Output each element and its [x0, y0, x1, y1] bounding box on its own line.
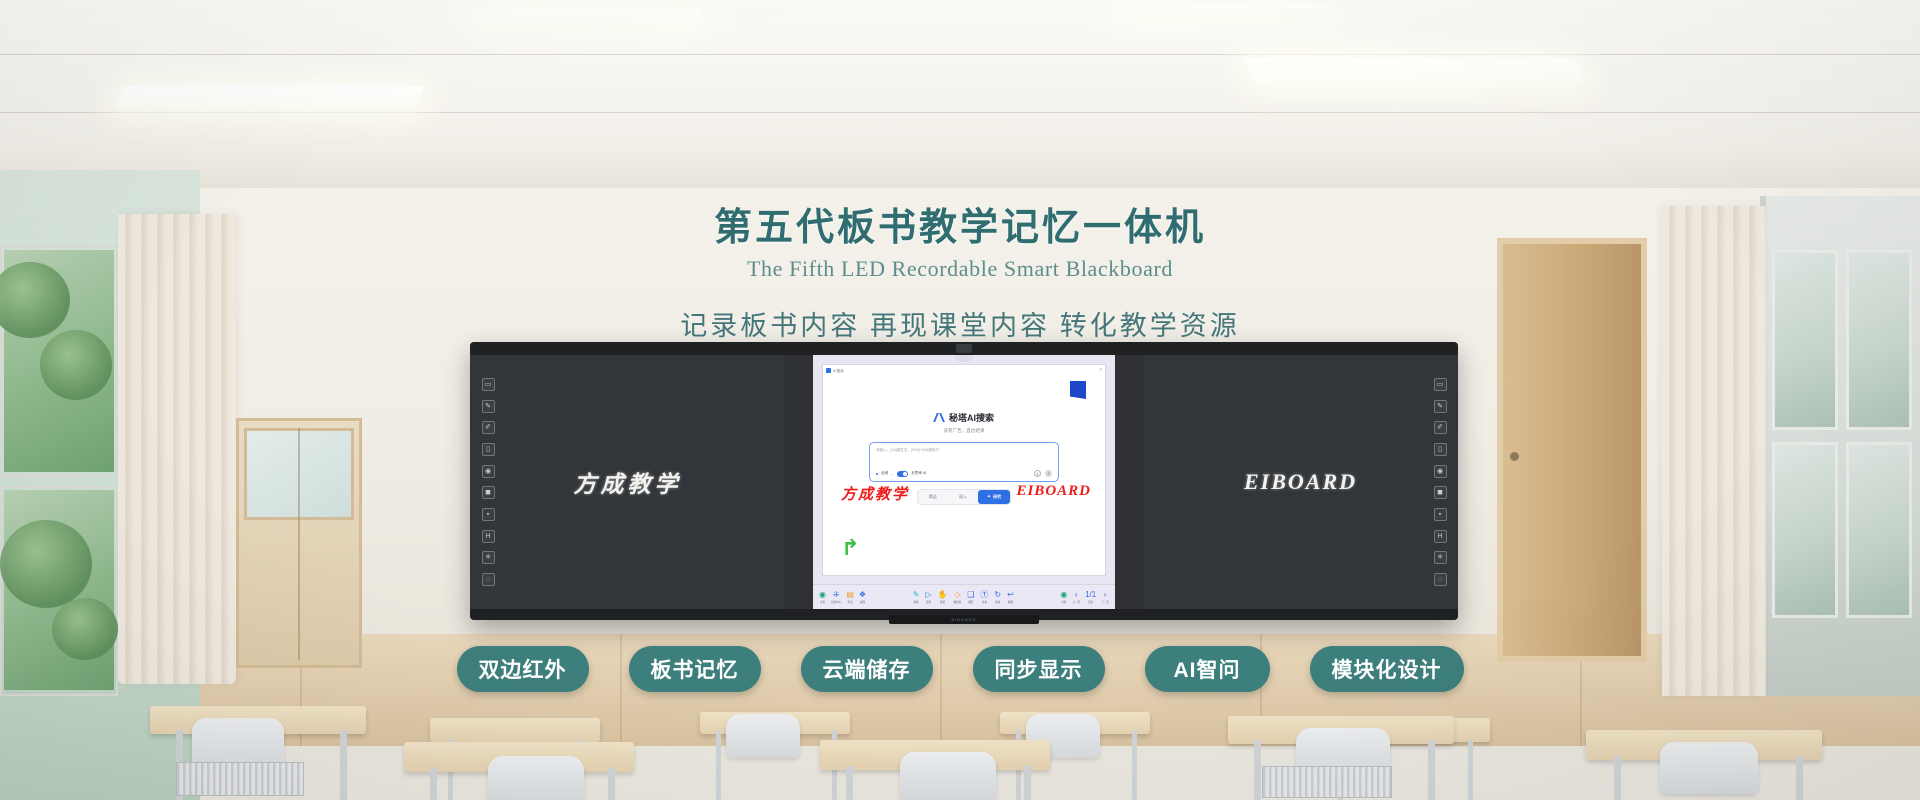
search-input[interactable]: 请输入，[Alt]键发送，[Shift]+[Alt]键换行 全网 ⌄ 长思考 A… — [869, 442, 1059, 482]
blue-flag-annotation — [1070, 381, 1086, 399]
feature-pill-label: 云端储存 — [823, 654, 911, 684]
eraser-tool-icon: ◇ — [954, 591, 960, 599]
search-tab-label: 深入 — [959, 494, 967, 499]
metaso-logo-icon — [934, 413, 946, 422]
search-tab-label: 简洁 — [929, 494, 937, 499]
right-control-strip[interactable]: ▭✎✐▯◉◼▪H✳◌ — [1429, 374, 1451, 590]
ceiling-seam — [0, 54, 1920, 55]
stop-icon[interactable]: ▪ — [482, 508, 495, 521]
search-placeholder: 请输入，[Alt]键发送，[Shift]+[Alt]键换行 — [876, 448, 1052, 453]
red-ink-chinese: 方成教学 — [841, 483, 909, 504]
chevron-down-icon[interactable]: ⌄ — [891, 472, 894, 476]
headline-chinese: 第五代板书教学记忆一体机 — [0, 196, 1920, 251]
taskbar-item-label: 漫游 — [940, 600, 945, 604]
taskbar-center-group[interactable]: ✎画笔▷选择✋漫游◇橡皮擦❑图形Ⓣ文本↻重来↩撤销 — [913, 591, 1014, 604]
headline-english: The Fifth LED Recordable Smart Blackboar… — [0, 256, 1920, 282]
brand-plate-label: EIBOARD — [951, 617, 976, 622]
board-brand-plate: EIBOARD — [889, 615, 1039, 624]
feature-pill-2[interactable]: 板书记忆 — [629, 646, 761, 692]
list-icon: ▤ — [846, 591, 854, 599]
undo-tool-button[interactable]: ↩撤销 — [1007, 591, 1014, 604]
taskbar-item-label: 应用中心 — [831, 600, 841, 604]
search-options-row: 全网 ⌄ 长思考 AI ◎ ＋ — [876, 470, 1052, 477]
search-tab-深入[interactable]: 深入 — [948, 490, 978, 504]
pen-alt-icon[interactable]: ✐ — [1434, 421, 1447, 434]
board-top-bezel — [470, 342, 1458, 355]
app-titlebar: AI搜索 × — [823, 365, 1105, 375]
dot-icon[interactable]: ◉ — [482, 465, 495, 478]
home-icon: ◉ — [819, 591, 826, 599]
interactive-screen[interactable]: AI搜索 × 秘塔AI搜索 没有广告，直达结果 请输入，[Alt]键发送，[Sh… — [813, 355, 1115, 609]
window-icon: ❖ — [859, 591, 866, 599]
app-slogan: 没有广告，直达结果 — [823, 428, 1105, 434]
add-attachment-icon[interactable]: ＋ — [1045, 470, 1052, 477]
blackboard-right-panel[interactable]: EIBOARD — [1143, 355, 1458, 609]
pen-icon[interactable]: ✎ — [1434, 400, 1447, 413]
power-icon[interactable]: ✳ — [1434, 551, 1447, 564]
taskbar-item-label: 撤销 — [1008, 600, 1013, 604]
display-icon[interactable]: ▭ — [482, 378, 495, 391]
ceiling-light — [468, 8, 702, 23]
page-icon[interactable]: ▯ — [482, 443, 495, 456]
display-icon[interactable]: ▭ — [1434, 378, 1447, 391]
prev-page-icon: ‹ — [1075, 591, 1078, 599]
list-button[interactable]: ▤列表 — [846, 591, 854, 604]
app-logo-text: 秘塔AI搜索 — [949, 411, 994, 424]
chalk-text-left: 方成教学 — [574, 465, 682, 499]
deep-think-toggle[interactable] — [897, 471, 908, 477]
text-tool-icon: Ⓣ — [980, 591, 988, 599]
power-icon[interactable]: ✳ — [482, 551, 495, 564]
search-tab-研究[interactable]: ✦研究 — [978, 490, 1010, 504]
dot-icon[interactable]: ◉ — [1434, 465, 1447, 478]
taskbar-item-label: 列表 — [848, 600, 853, 604]
door-knob[interactable] — [1510, 452, 1519, 461]
page-count-icon: 1/1 — [1085, 591, 1096, 599]
settings-icon[interactable]: ◌ — [1434, 573, 1447, 586]
prev-page-button[interactable]: ‹上一页 — [1072, 591, 1080, 604]
chalk-text-right: EIBOARD — [1244, 469, 1357, 495]
shape-tool-icon: ❑ — [967, 591, 974, 599]
page-count-button[interactable]: 1/1页码 — [1085, 591, 1096, 604]
blackboard-left-panel[interactable]: 方成教学 — [470, 355, 785, 609]
app-title: AI搜索 — [833, 368, 844, 373]
feature-pill-6[interactable]: 模块化设计 — [1310, 646, 1464, 692]
home-button[interactable]: ◉主页 — [819, 591, 826, 604]
eraser-tool-button[interactable]: ◇橡皮擦 — [953, 591, 961, 604]
hand-tool-button[interactable]: ✋漫游 — [937, 591, 947, 604]
feature-pill-label: 模块化设计 — [1332, 654, 1442, 684]
ceiling-light — [1118, 4, 1331, 18]
taskbar-item-label: 重来 — [995, 600, 1000, 604]
screen-taskbar[interactable]: ◉主页⁜应用中心▤列表❖桌面 ✎画笔▷选择✋漫游◇橡皮擦❑图形Ⓣ文本↻重来↩撤销… — [813, 584, 1115, 609]
sparkle-icon: ✦ — [987, 495, 991, 500]
pen-alt-icon[interactable]: ✐ — [482, 421, 495, 434]
next-page-icon: › — [1104, 591, 1107, 599]
ai-search-app-window[interactable]: AI搜索 × 秘塔AI搜索 没有广告，直达结果 请输入，[Alt]键发送，[Sh… — [822, 364, 1106, 576]
cabinet-door-split — [298, 428, 300, 660]
pen-tool-icon: ✎ — [913, 591, 920, 599]
window-pane — [1772, 442, 1838, 618]
taskbar-item-label: 录屏 — [1061, 600, 1066, 604]
taskbar-item-label: 上一页 — [1072, 600, 1080, 604]
text-tool-button[interactable]: Ⓣ文本 — [980, 591, 988, 604]
taskbar-item-label: 主页 — [820, 600, 825, 604]
next-page-button[interactable]: ›下一页 — [1101, 591, 1109, 604]
screen-notch — [955, 355, 973, 362]
taskbar-item-label: 桌面 — [860, 600, 865, 604]
feature-pill-label: AI智问 — [1174, 654, 1241, 684]
taskbar-item-label: 选择 — [926, 600, 931, 604]
taskbar-right-group[interactable]: ◉录屏‹上一页1/1页码›下一页 — [1060, 591, 1109, 604]
record-button[interactable]: ◉录屏 — [1060, 591, 1067, 604]
square-dot-icon[interactable]: ◼ — [482, 486, 495, 499]
ceiling-seam — [0, 112, 1920, 113]
record-icon: ◉ — [1060, 591, 1067, 599]
search-tab-简洁[interactable]: 简洁 — [918, 490, 948, 504]
window-button[interactable]: ❖桌面 — [859, 591, 866, 604]
shape-tool-button[interactable]: ❑图形 — [967, 591, 974, 604]
settings-icon[interactable]: ◌ — [482, 573, 495, 586]
apps-icon: ⁜ — [833, 591, 840, 599]
select-tool-button[interactable]: ▷选择 — [925, 591, 931, 604]
red-ink-english: EIBOARD — [1016, 483, 1091, 500]
feature-pill-label: 同步显示 — [995, 654, 1083, 684]
scope-selector[interactable]: 全网 — [881, 471, 888, 476]
taskbar-item-label: 页码 — [1088, 600, 1093, 604]
feature-pill-row[interactable]: 双边红外板书记忆云端储存同步显示AI智问模块化设计 — [0, 646, 1920, 692]
app-icon — [826, 368, 831, 373]
hero-headline: 第五代板书教学记忆一体机 The Fifth LED Recordable Sm… — [0, 196, 1920, 343]
refresh-tool-button[interactable]: ↻重来 — [994, 591, 1001, 604]
close-icon[interactable]: × — [1099, 368, 1102, 373]
app-logo: 秘塔AI搜索 — [823, 411, 1105, 424]
headline-tagline: 记录板书内容 再现课堂内容 转化教学资源 — [0, 304, 1920, 343]
feature-pill-1[interactable]: 双边红外 — [457, 646, 589, 692]
hdmi-icon[interactable]: H — [482, 530, 495, 543]
green-undo-annotation: ↰ — [841, 537, 859, 559]
input-action-icons: ◎ ＋ — [1034, 470, 1052, 477]
undo-tool-icon: ↩ — [1007, 591, 1014, 599]
square-dot-icon[interactable]: ◼ — [1434, 486, 1447, 499]
feature-pill-4[interactable]: 同步显示 — [973, 646, 1105, 692]
deep-think-label: 长思考 AI — [911, 471, 926, 476]
ceiling-light — [115, 86, 426, 108]
mode-dot-icon — [876, 473, 878, 475]
feature-pill-3[interactable]: 云端储存 — [801, 646, 933, 692]
camera-icon[interactable]: ◎ — [1034, 470, 1041, 477]
hand-tool-icon: ✋ — [937, 591, 947, 599]
pen-icon[interactable]: ✎ — [482, 400, 495, 413]
left-control-strip[interactable]: ▭✎✐▯◉◼▪H✳◌ — [477, 374, 499, 590]
apps-button[interactable]: ⁜应用中心 — [831, 591, 841, 604]
foliage — [0, 520, 92, 608]
feature-pill-label: 板书记忆 — [651, 654, 739, 684]
hdmi-icon[interactable]: H — [1434, 530, 1447, 543]
taskbar-left-group[interactable]: ◉主页⁜应用中心▤列表❖桌面 — [819, 591, 866, 604]
feature-pill-5[interactable]: AI智问 — [1145, 646, 1270, 692]
taskbar-item-label: 橡皮擦 — [953, 600, 961, 604]
taskbar-item-label: 文本 — [982, 600, 987, 604]
refresh-tool-icon: ↻ — [994, 591, 1001, 599]
smart-blackboard[interactable]: 方成教学 EIBOARD ▭✎✐▯◉◼▪H✳◌ ▭✎✐▯◉◼▪H✳◌ AI搜索 … — [470, 342, 1458, 620]
window-pane — [1846, 442, 1912, 618]
feature-pill-label: 双边红外 — [479, 654, 567, 684]
pen-tool-button[interactable]: ✎画笔 — [913, 591, 920, 604]
ceiling-light — [1245, 58, 1586, 84]
taskbar-item-label: 画笔 — [913, 600, 918, 604]
taskbar-item-label: 图形 — [968, 600, 973, 604]
ceiling-beam — [0, 150, 1920, 192]
select-tool-icon: ▷ — [925, 591, 931, 599]
stop-icon[interactable]: ▪ — [1434, 508, 1447, 521]
taskbar-item-label: 下一页 — [1101, 600, 1109, 604]
page-icon[interactable]: ▯ — [1434, 443, 1447, 456]
camera-icon — [956, 344, 972, 353]
search-tab-label: 研究 — [993, 494, 1001, 500]
